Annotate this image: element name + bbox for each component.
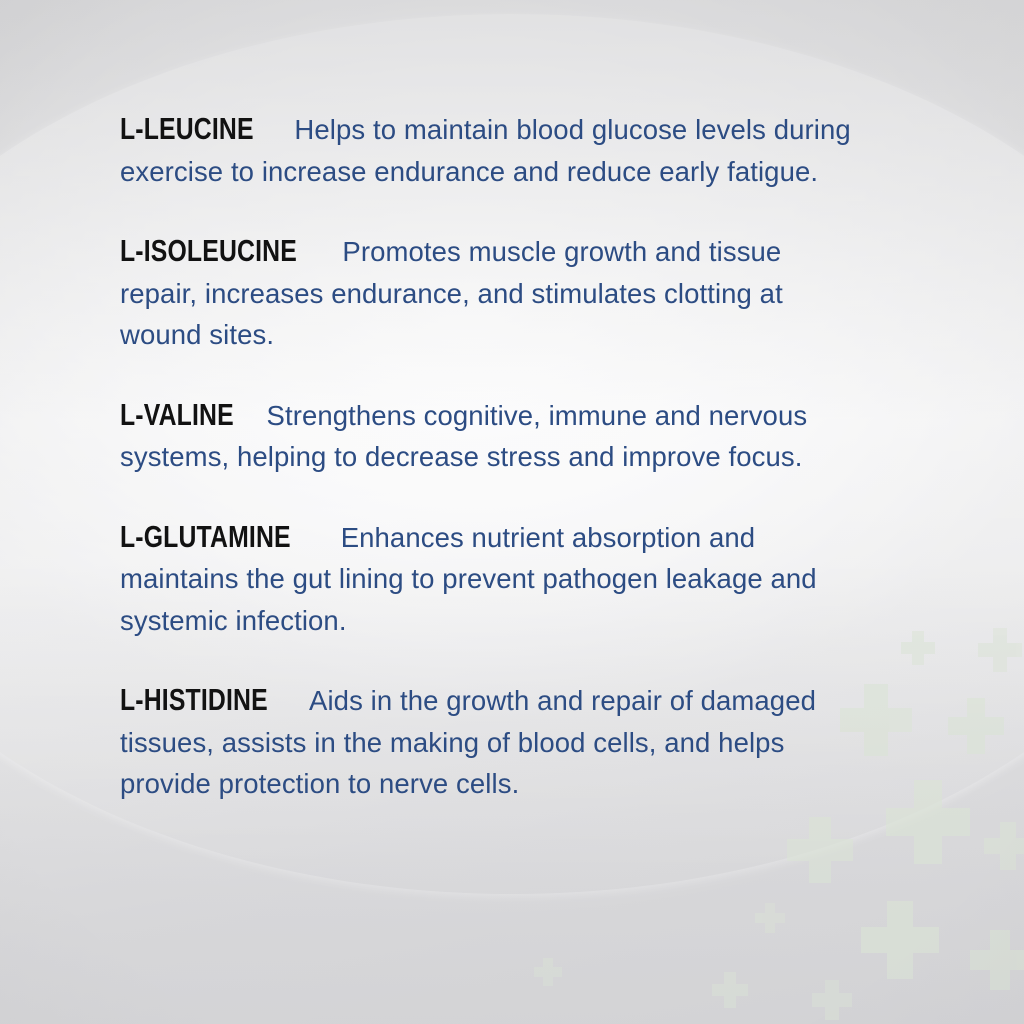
- ingredient-benefits-poster: L-LEUCINEHelps to maintain blood glucose…: [0, 0, 1024, 1024]
- ingredient-paragraph: L-VALINEStrengthens cognitive, immune an…: [120, 394, 860, 478]
- ingredient-paragraph: L-LEUCINEHelps to maintain blood glucose…: [120, 108, 860, 192]
- ingredient-term: L-ISOLEUCINE: [120, 230, 297, 272]
- ingredient-paragraph: L-GLUTAMINEEnhances nutrient absorption …: [120, 516, 860, 642]
- ingredient-entry-valine: L-VALINEStrengthens cognitive, immune an…: [120, 394, 860, 478]
- ingredient-term: L-GLUTAMINE: [120, 516, 291, 558]
- ingredient-entry-histidine: L-HISTIDINEAids in the growth and repair…: [120, 679, 860, 805]
- ingredient-entry-isoleucine: L-ISOLEUCINEPromotes muscle growth and t…: [120, 230, 860, 356]
- ingredient-term: L-HISTIDINE: [120, 679, 268, 721]
- ingredient-term: L-LEUCINE: [120, 108, 254, 150]
- ingredient-entry-leucine: L-LEUCINEHelps to maintain blood glucose…: [120, 108, 860, 192]
- ingredient-term: L-VALINE: [120, 394, 234, 436]
- ingredient-entry-glutamine: L-GLUTAMINEEnhances nutrient absorption …: [120, 516, 860, 642]
- ingredient-paragraph: L-HISTIDINEAids in the growth and repair…: [120, 679, 860, 805]
- ingredient-list: L-LEUCINEHelps to maintain blood glucose…: [120, 108, 860, 805]
- ingredient-paragraph: L-ISOLEUCINEPromotes muscle growth and t…: [120, 230, 860, 356]
